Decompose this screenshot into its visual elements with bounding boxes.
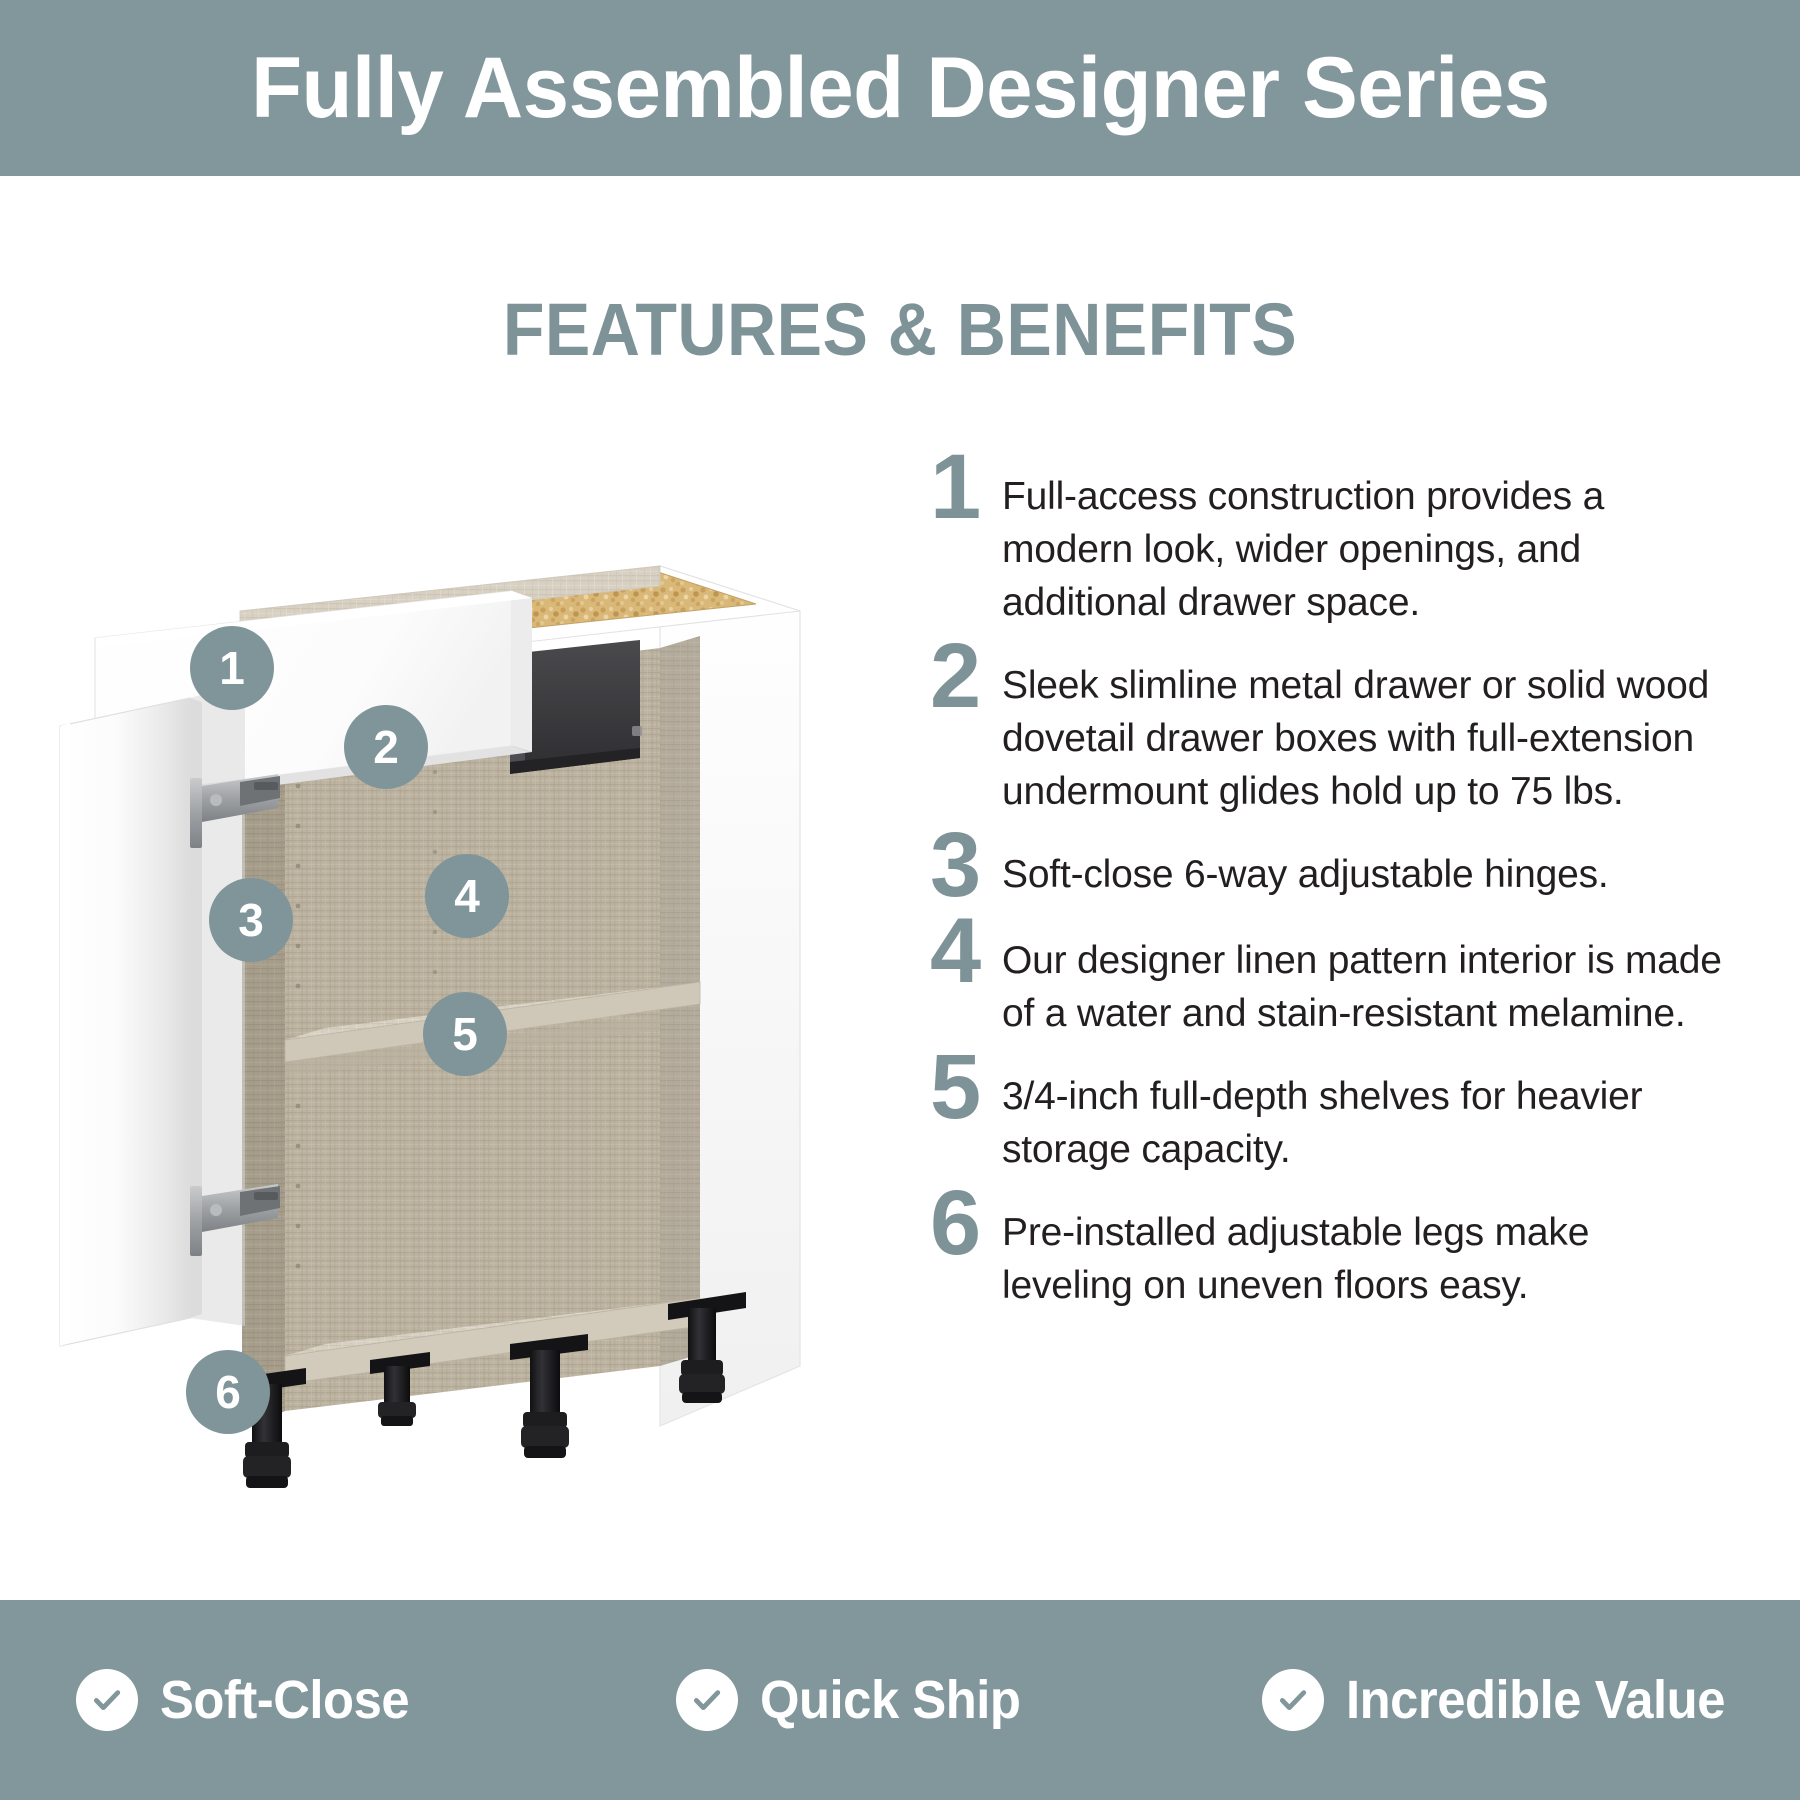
check-circle-icon (676, 1669, 738, 1731)
feature-item-3: 3 Soft-close 6-way adjustable hinges. (930, 834, 1730, 903)
callout-5-number: 5 (452, 1011, 478, 1057)
callout-2[interactable]: 2 (344, 705, 428, 789)
callout-6-number: 6 (215, 1369, 241, 1415)
feature-3-text: Soft-close 6-way adjustable hinges. (1002, 834, 1730, 901)
feature-2-text: Sleek slimline metal drawer or solid woo… (1002, 645, 1730, 818)
main-content: 1 2 3 4 5 6 1 Full-access construction p… (0, 176, 1800, 1600)
feature-4-number: 4 (930, 914, 1002, 989)
callout-5[interactable]: 5 (423, 992, 507, 1076)
product-illustration (40, 426, 900, 1496)
feature-item-2: 2 Sleek slimline metal drawer or solid w… (930, 645, 1730, 818)
feature-1-number: 1 (930, 450, 1002, 525)
page-title: Fully Assembled Designer Series (251, 39, 1550, 138)
feature-1-text: Full-access construction provides a mode… (1002, 456, 1730, 629)
feature-5-text: 3/4-inch full-depth shelves for heavier … (1002, 1056, 1730, 1176)
feature-4-text: Our designer linen pattern interior is m… (1002, 920, 1730, 1040)
feature-2-number: 2 (930, 639, 1002, 714)
footer-badge-incredible-value: Incredible Value (1262, 1669, 1749, 1731)
callout-1-number: 1 (219, 645, 245, 691)
callout-1[interactable]: 1 (190, 626, 274, 710)
callout-4-number: 4 (454, 873, 480, 919)
footer-label-quick-ship: Quick Ship (760, 1669, 1020, 1731)
check-circle-icon (76, 1669, 138, 1731)
callout-3[interactable]: 3 (209, 878, 293, 962)
feature-item-5: 5 3/4-inch full-depth shelves for heavie… (930, 1056, 1730, 1176)
feature-6-text: Pre-installed adjustable legs make level… (1002, 1192, 1730, 1312)
feature-item-6: 6 Pre-installed adjustable legs make lev… (930, 1192, 1730, 1312)
feature-3-number: 3 (930, 828, 1002, 903)
callout-6[interactable]: 6 (186, 1350, 270, 1434)
page-header: Fully Assembled Designer Series (0, 0, 1800, 176)
footer-badge-quick-ship: Quick Ship (676, 1669, 1037, 1731)
features-list: 1 Full-access construction provides a mo… (930, 456, 1730, 1328)
feature-item-1: 1 Full-access construction provides a mo… (930, 456, 1730, 629)
feature-item-4: 4 Our designer linen pattern interior is… (930, 920, 1730, 1040)
feature-6-number: 6 (930, 1186, 1002, 1261)
footer-label-soft-close: Soft-Close (160, 1669, 409, 1731)
footer-label-incredible-value: Incredible Value (1346, 1669, 1725, 1731)
page-footer: Soft-Close Quick Ship Incredible Value (0, 1600, 1800, 1800)
footer-badge-soft-close: Soft-Close (76, 1669, 425, 1731)
callout-3-number: 3 (238, 897, 264, 943)
check-circle-icon (1262, 1669, 1324, 1731)
callout-4[interactable]: 4 (425, 854, 509, 938)
feature-5-number: 5 (930, 1050, 1002, 1125)
callout-2-number: 2 (373, 724, 399, 770)
